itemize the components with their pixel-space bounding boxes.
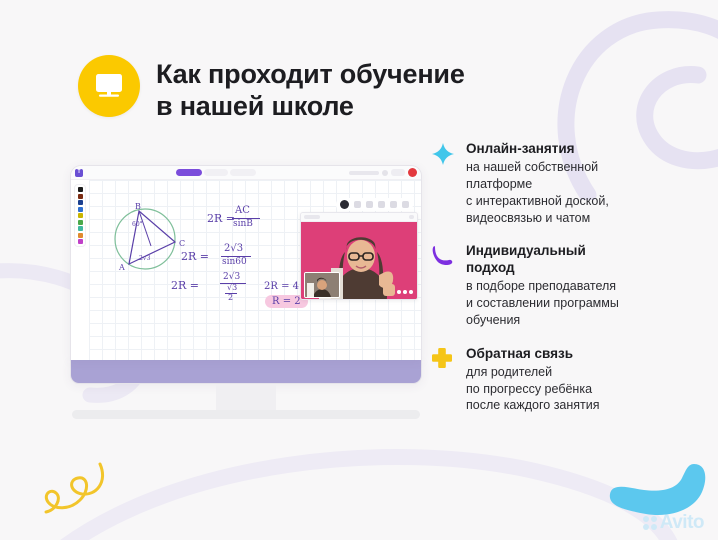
feature-item-individual-approach: Индивидуальный подход в подборе преподав… <box>432 243 694 328</box>
feature-heading: Обратная связь <box>466 346 600 363</box>
swatch-navy[interactable] <box>78 200 83 205</box>
whiteboard-canvas[interactable]: B A C 60° 2√3 2R = AC sinB 2R = 2√3 sin6… <box>89 180 421 360</box>
formula-3-den-numerator: √3 <box>227 283 237 292</box>
participants-chip[interactable] <box>391 169 405 176</box>
avito-wordmark: Avito <box>660 512 704 534</box>
monitor-screen: T <box>70 165 422 360</box>
feature-icon-wrap <box>432 346 456 415</box>
line-tool-icon[interactable] <box>378 201 385 208</box>
app-logo: T <box>75 169 83 177</box>
tab-third[interactable] <box>230 169 256 176</box>
result-2r: 2R = 4 <box>264 281 299 292</box>
formula-2-numerator: 2√3 <box>224 243 243 254</box>
feature-icon-wrap <box>432 243 456 328</box>
eraser-tool-icon[interactable] <box>354 201 361 208</box>
monitor-chin <box>70 360 422 384</box>
avito-logo-icon <box>643 516 657 530</box>
monitor-base <box>72 410 420 419</box>
swatch-magenta[interactable] <box>78 239 83 244</box>
formula-1-denominator: sinB <box>233 219 253 229</box>
app-topbar-right[interactable] <box>349 168 417 177</box>
video-call-panel[interactable] <box>300 212 418 300</box>
swatch-orange[interactable] <box>78 233 83 238</box>
lesson-title-label <box>349 171 379 175</box>
swatch-teal[interactable] <box>78 226 83 231</box>
crescent-icon <box>432 245 454 267</box>
swatch-brown[interactable] <box>78 194 83 199</box>
feature-list: Онлайн-занятия на нашей собственной плат… <box>432 141 694 431</box>
tab-second[interactable] <box>204 169 228 176</box>
feature-text-wrap: Обратная связь для родителей по прогресс… <box>466 346 600 415</box>
formula-2-denominator: sin60 <box>222 257 247 267</box>
pen-tool-icon[interactable] <box>340 200 349 209</box>
page-title: Как проходит обучение в нашей школе <box>156 55 465 122</box>
video-panel-title <box>304 215 320 219</box>
formula-3-den-denominator: 2 <box>228 293 233 302</box>
feature-text-wrap: Индивидуальный подход в подборе преподав… <box>466 243 619 328</box>
student-video-icon <box>305 273 340 298</box>
picture-in-picture-thumbnail[interactable] <box>304 272 340 298</box>
shape-tool-icon[interactable] <box>390 201 397 208</box>
color-palette-sidebar[interactable] <box>74 184 86 247</box>
feature-body: на нашей собственной платформе с интерак… <box>466 159 609 227</box>
whiteboard-toolbar[interactable] <box>336 198 413 211</box>
svg-text:2√3: 2√3 <box>139 255 151 262</box>
feature-body: для родителей по прогрессу ребёнка после… <box>466 364 600 415</box>
monitor-icon <box>94 73 124 99</box>
feature-body: в подборе преподавателя и составлении пр… <box>466 278 619 329</box>
feature-heading: Онлайн-занятия <box>466 141 609 158</box>
formula-1-left: 2R = <box>207 212 235 225</box>
monitor-stand <box>216 384 276 410</box>
swatch-green[interactable] <box>78 220 83 225</box>
svg-text:A: A <box>118 263 125 272</box>
app-tabs[interactable] <box>176 169 256 176</box>
squiggle-decoration-icon <box>38 462 118 532</box>
video-options-icon[interactable] <box>397 290 413 294</box>
settings-icon[interactable] <box>382 170 388 176</box>
swatch-blue[interactable] <box>78 207 83 212</box>
formula-3-numerator: 2√3 <box>223 272 240 282</box>
feature-item-online-lessons: Онлайн-занятия на нашей собственной плат… <box>432 141 694 226</box>
end-call-button[interactable] <box>408 168 417 177</box>
swatch-black[interactable] <box>78 187 83 192</box>
feature-icon-wrap <box>432 141 456 226</box>
svg-text:B: B <box>135 202 141 211</box>
video-panel-header <box>301 213 417 222</box>
header-badge <box>78 55 140 117</box>
formula-2-left: 2R = <box>181 250 209 263</box>
star-icon <box>432 143 454 165</box>
geometry-figure: B A C 60° 2√3 <box>99 202 209 282</box>
formula-1-numerator: AC <box>235 205 250 216</box>
formula-3-left: 2R = <box>171 279 199 292</box>
feature-text-wrap: Онлайн-занятия на нашей собственной плат… <box>466 141 609 226</box>
svg-text:C: C <box>179 239 185 248</box>
add-tool-icon[interactable] <box>402 201 409 208</box>
video-main-feed <box>301 222 417 300</box>
monitor-mockup: T <box>70 165 422 419</box>
swatch-yellow[interactable] <box>78 213 83 218</box>
video-panel-menu-icon[interactable] <box>409 215 414 219</box>
page-header: Как проходит обучение в нашей школе <box>78 55 465 122</box>
plus-icon <box>432 348 452 368</box>
app-topbar: T <box>71 166 421 180</box>
feature-item-feedback: Обратная связь для родителей по прогресс… <box>432 346 694 415</box>
feature-heading: Индивидуальный подход <box>466 243 619 277</box>
note-tool-icon[interactable] <box>366 201 373 208</box>
svg-text:60°: 60° <box>132 221 143 228</box>
avito-watermark: Avito <box>643 512 704 534</box>
poster-canvas: Как проходит обучение в нашей школе T <box>0 0 718 540</box>
tab-active[interactable] <box>176 169 202 176</box>
